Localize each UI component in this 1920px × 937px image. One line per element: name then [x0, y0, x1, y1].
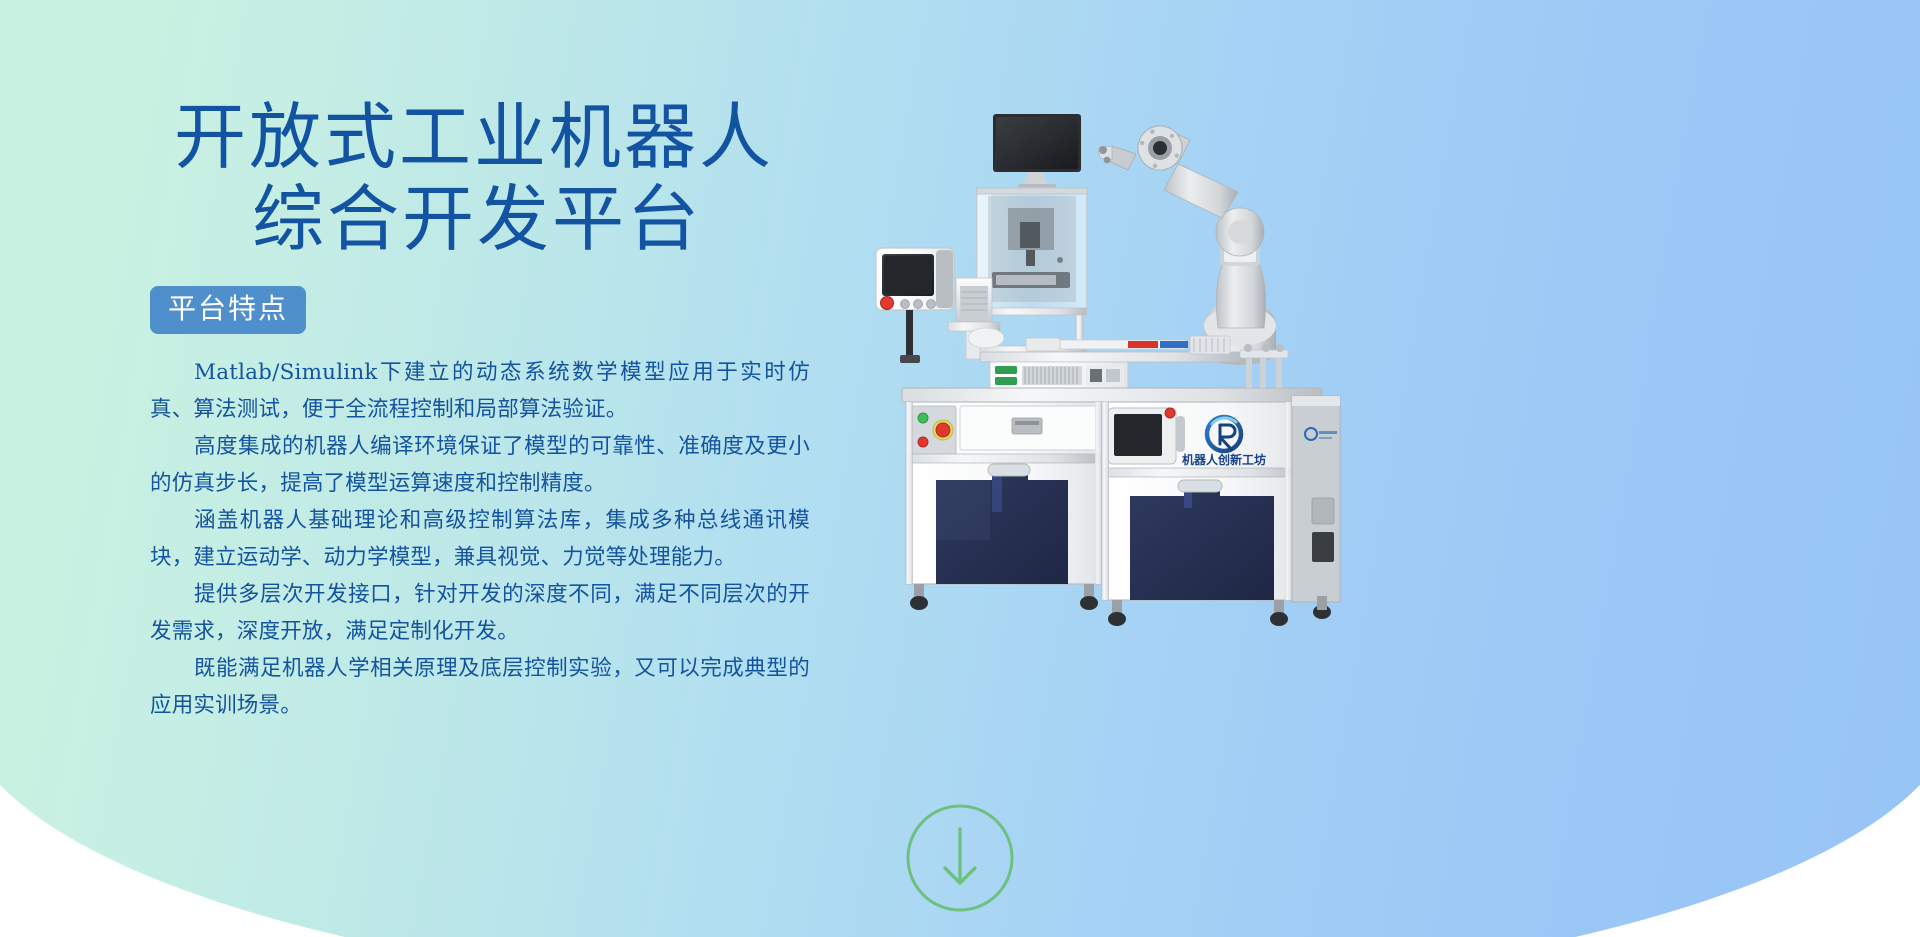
feature-item: 提供多层次开发接口，针对开发的深度不同，满足不同层次的开发需求，深度开放，满足定…	[150, 576, 810, 650]
machine-controller-rack	[990, 362, 1128, 388]
feature-item: 既能满足机器人学相关原理及底层控制实验，又可以完成典型的应用实训场景。	[150, 650, 810, 724]
hero-text-column: 开放式工业机器人 综合开发平台 平台特点 Matlab/Simulink下建立的…	[150, 96, 850, 724]
machine-fixtures	[1240, 344, 1288, 388]
feature-list: Matlab/Simulink下建立的动态系统数学模型应用于实时仿真、算法测试，…	[150, 354, 810, 724]
brand-logo-text: 机器人创新工坊	[1182, 452, 1266, 467]
page-title-line-1: 开放式工业机器人	[150, 96, 850, 178]
machine-monitor	[993, 114, 1081, 189]
feature-item: Matlab/Simulink下建立的动态系统数学模型应用于实时仿真、算法测试，…	[150, 354, 810, 428]
arrow-down-icon[interactable]	[905, 803, 1015, 913]
machine-hmi-panel	[876, 248, 954, 363]
platform-equipment-image: 机器人创新工坊	[860, 100, 1440, 660]
machine-right-cabinet: 机器人创新工坊	[1102, 396, 1340, 626]
scroll-down-button[interactable]	[905, 803, 1015, 913]
page-title-line-2: 综合开发平台	[150, 178, 850, 260]
machine-left-cabinet	[906, 402, 1102, 610]
platform-features-badge: 平台特点	[150, 286, 306, 334]
machine-gripper	[1098, 146, 1136, 170]
machine-robot-arm	[1098, 119, 1276, 365]
feature-item: 涵盖机器人基础理论和高级控制算法库，集成多种总线通讯模块，建立运动学、动力学模型…	[150, 502, 810, 576]
machine-worktop	[902, 388, 1322, 402]
feature-item: 高度集成的机器人编译环境保证了模型的可靠性、准确度及更小的仿真步长，提高了模型运…	[150, 428, 810, 502]
hero-banner: 机器人创新工坊	[0, 0, 1920, 937]
